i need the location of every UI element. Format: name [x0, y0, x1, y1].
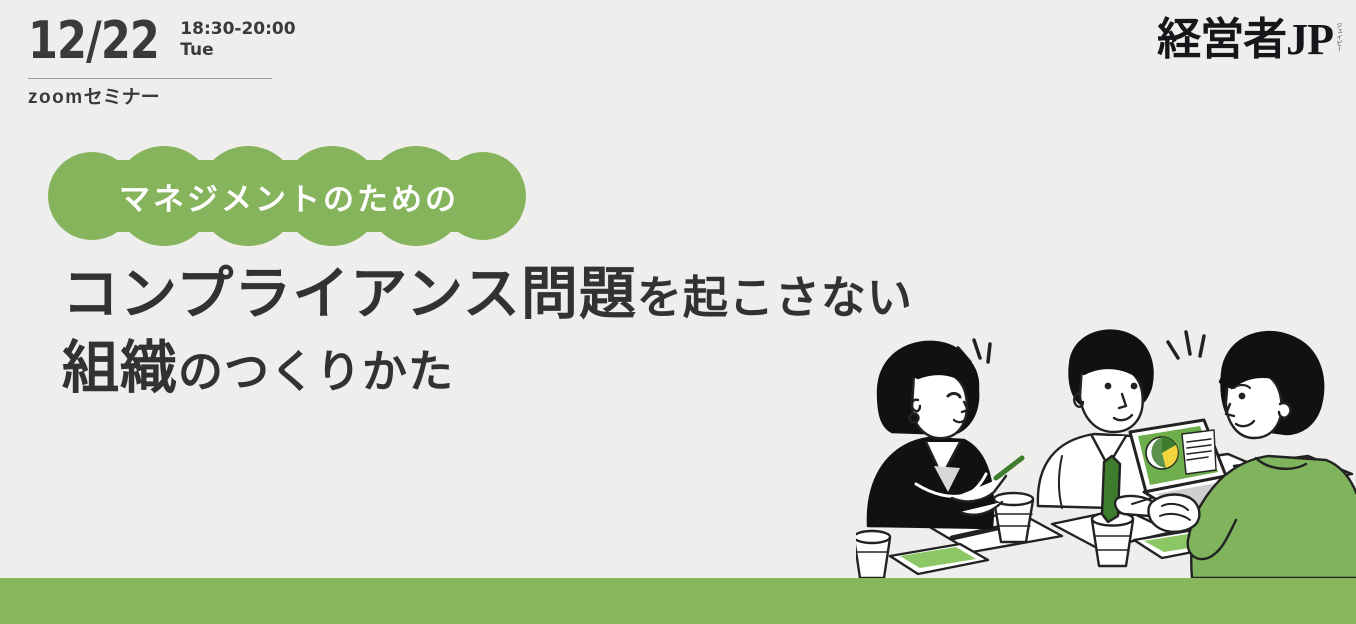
bottom-accent-bar: [0, 578, 1356, 624]
pie-chart-green-yellow: [1146, 437, 1178, 469]
divider: [28, 78, 272, 79]
event-date: 12/22: [28, 14, 159, 68]
emphasis-lines: [1168, 332, 1204, 358]
category-badge-label: マネジメントのための: [48, 146, 526, 246]
meeting-illustration: [856, 316, 1356, 578]
meeting-illustration-svg: [856, 316, 1356, 578]
seminar-format-label: zoomセミナー: [28, 86, 160, 110]
category-badge: マネジメントのための: [48, 146, 526, 246]
headline-line2-primary: 組織: [62, 336, 178, 400]
event-day-of-week: Tue: [180, 39, 295, 61]
date-block: 12/22 18:30-20:00 Tue: [28, 14, 328, 68]
event-time: 18:30-20:00: [180, 20, 295, 39]
brand-logo-text: 経営者JP: [1157, 16, 1333, 64]
seminar-banner: 12/22 18:30-20:00 Tue zoomセミナー 経営者JP ジェイ…: [0, 0, 1356, 624]
zoom-word: zoom: [28, 87, 84, 108]
date-meta: 18:30-20:00 Tue: [180, 14, 295, 61]
date-row: 12/22 18:30-20:00 Tue: [28, 14, 328, 68]
seminar-word: セミナー: [84, 87, 160, 108]
coffee-cup: [856, 531, 890, 578]
headline-line1-primary: コンプライアンス問題: [62, 262, 637, 326]
headline-line2-secondary: のつくりかた: [178, 340, 454, 404]
coffee-cup: [994, 493, 1033, 542]
brand-logo-ruby: ジェイピー: [1335, 22, 1342, 52]
brand-logo[interactable]: 経営者JP ジェイピー: [1157, 16, 1342, 64]
